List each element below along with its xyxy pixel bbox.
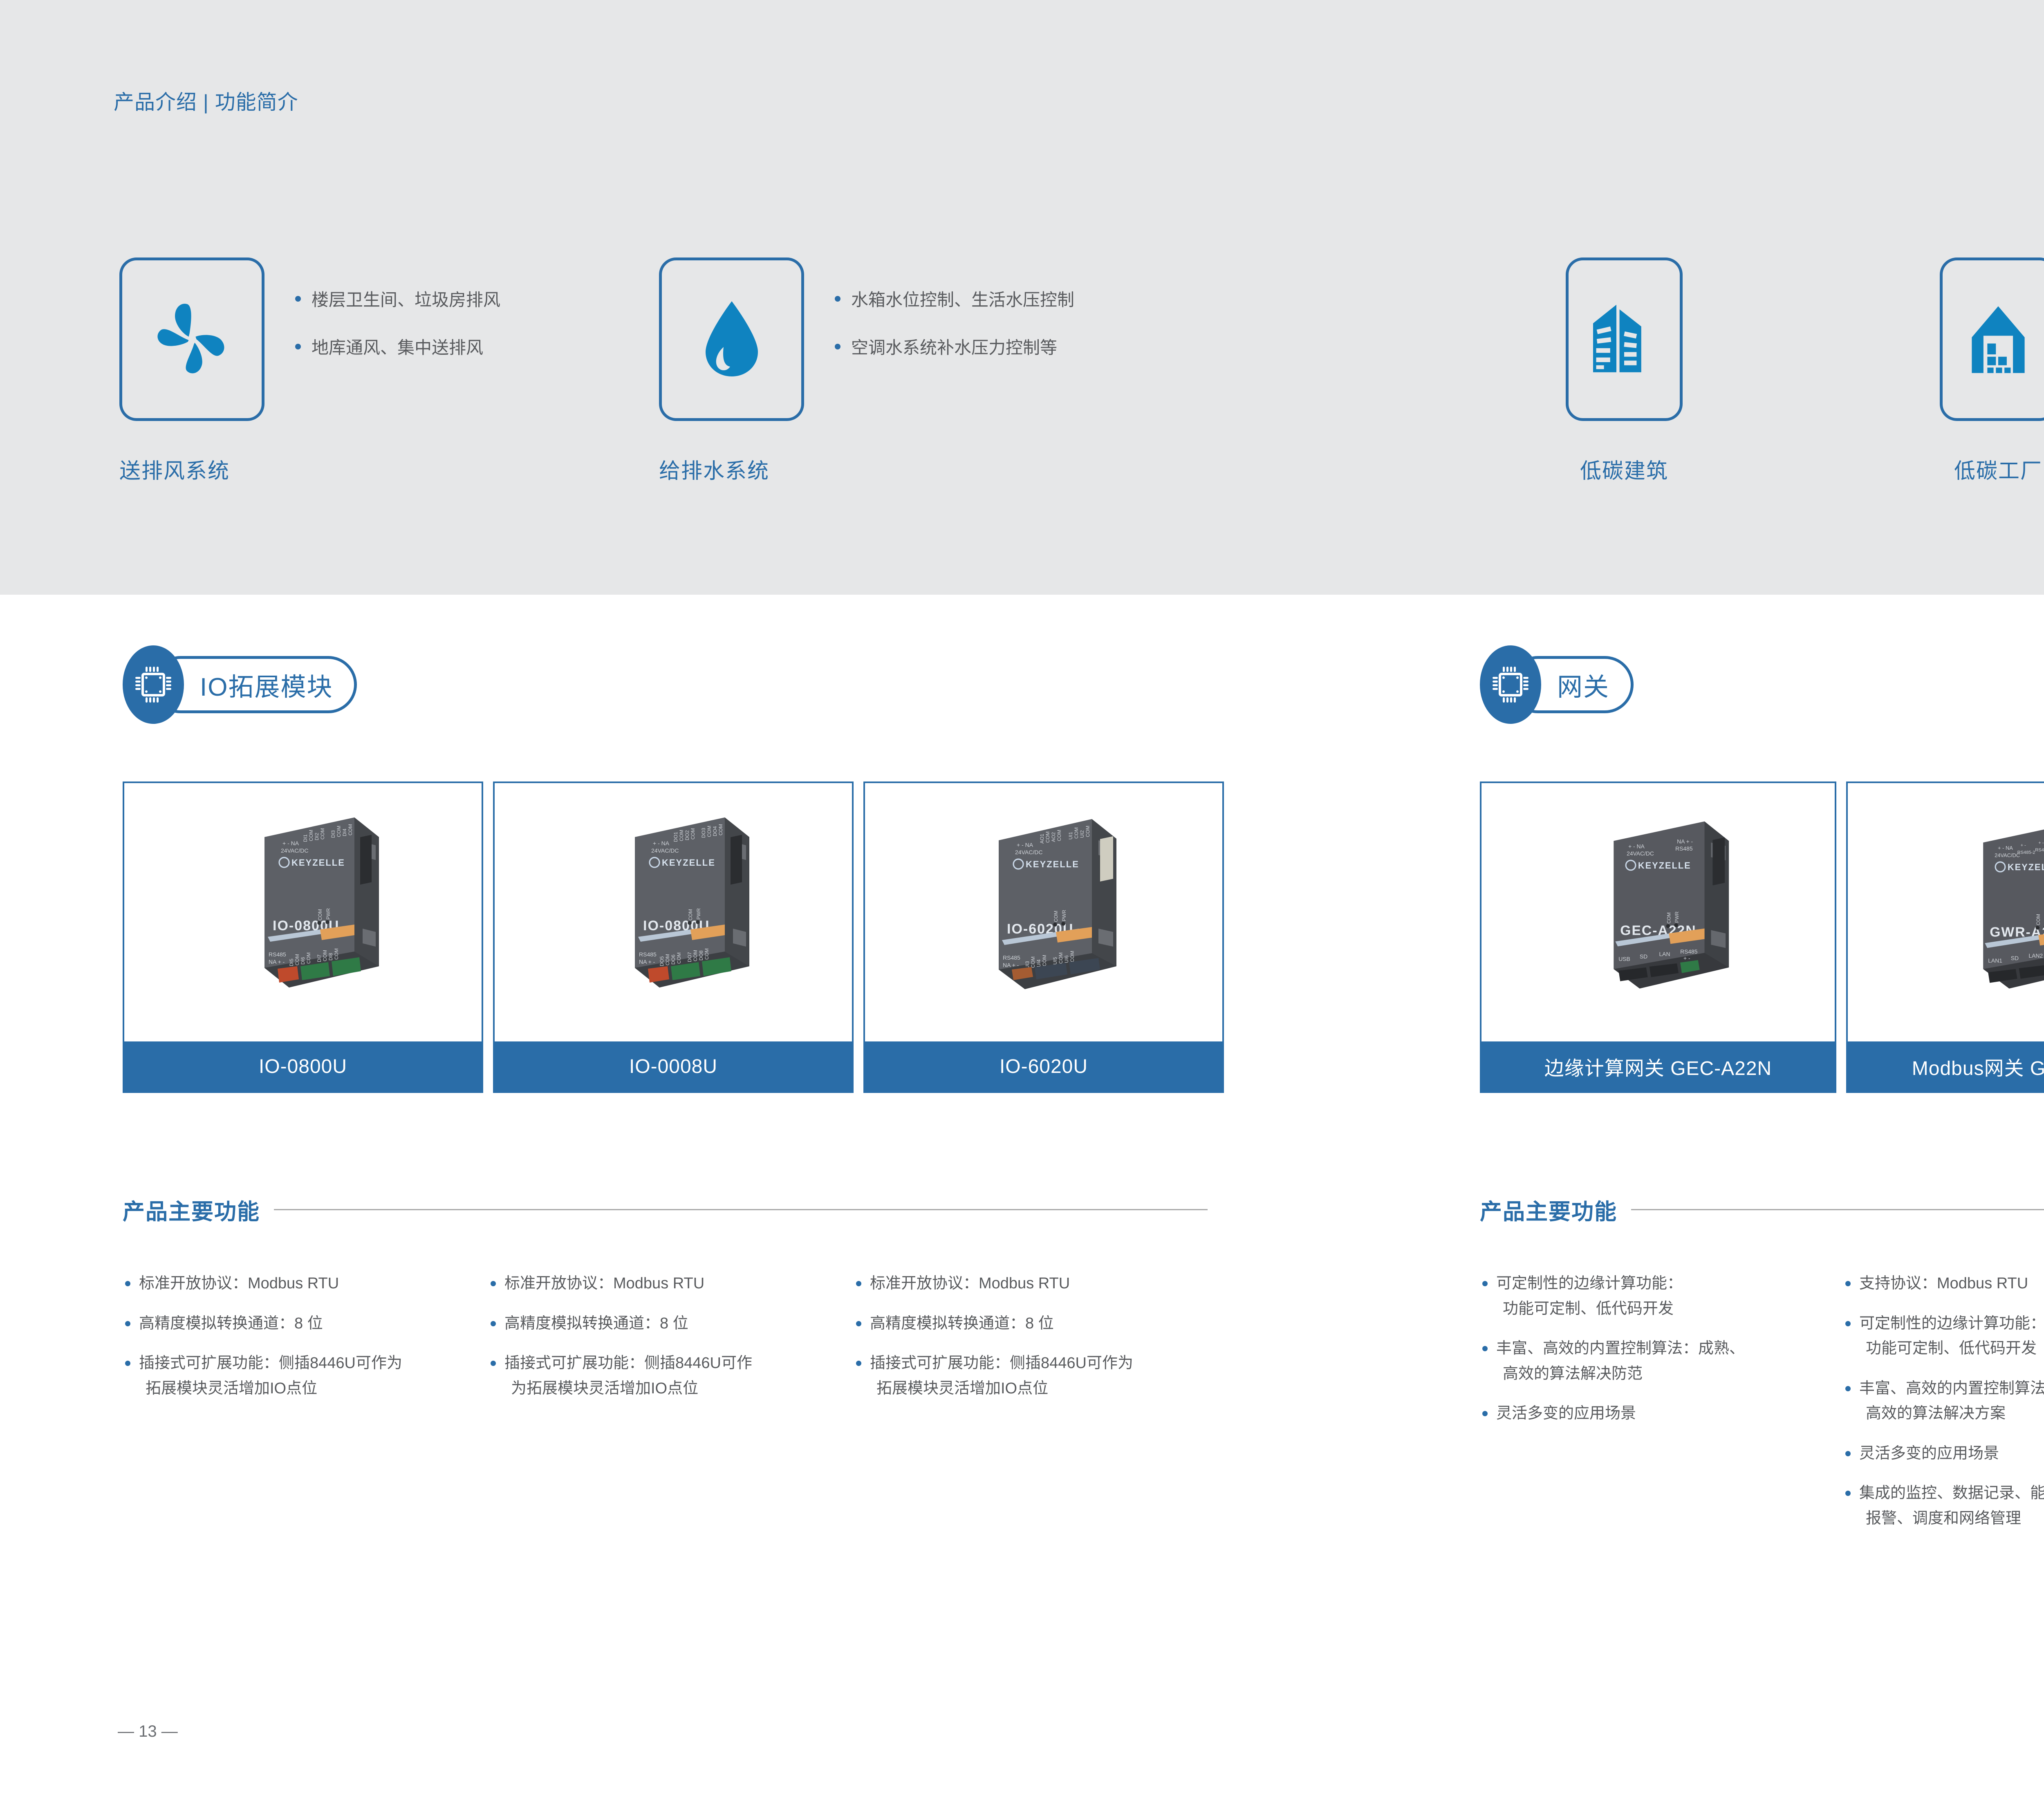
ventilation-bullet-list: 楼层卫生间、垃圾房排风 地库通风、集中送排风 [295,286,500,359]
svg-text:COM: COM [718,824,724,835]
svg-text:KEYZELLE: KEYZELLE [1638,860,1691,871]
product-name: IO-0800U [124,1041,482,1091]
svg-text:24VAC/DC: 24VAC/DC [281,847,308,854]
list-item: 丰富、高效的内置控制算法：成熟、高效的算法解决方案 [1843,1376,2044,1426]
page-number-left: — 13 — [118,1722,178,1741]
list-item: 标准开放协议：Modbus RTU [488,1271,844,1296]
svg-text:COM: COM [1666,912,1672,924]
list-item: 标准开放协议：Modbus RTU [123,1271,478,1296]
svg-text:COM: COM [693,950,698,961]
svg-text:COM: COM [1074,827,1079,839]
office-building-icon-frame [1566,257,1683,421]
section-title: IO拓展模块 [200,666,333,703]
chip-icon-badge [1480,645,1541,724]
product-name: IO-0008U [495,1041,852,1091]
svg-text:AO2: AO2 [1051,832,1056,842]
svg-text:LAN2: LAN2 [2028,952,2043,959]
svg-text:COM: COM [336,826,342,837]
scenario-block-water: 水箱水位控制、生活水压控制 空调水系统补水压力控制等 给排水系统 [659,257,804,484]
list-item: 插接式可扩展功能：侧插8446U可作为拓展模块灵活增加IO点位 [854,1351,1209,1401]
svg-text:RS485: RS485 [639,951,657,958]
chip-icon-badge [123,645,184,724]
svg-text:+ - NA: + - NA [1017,842,1033,848]
fan-icon-frame [119,257,264,421]
list-item: 标准开放协议：Modbus RTU [854,1271,1209,1296]
svg-text:24VAC/DC: 24VAC/DC [1015,849,1042,855]
svg-text:COM: COM [1058,952,1064,964]
svg-text:COM: COM [306,952,312,964]
scenario-block-ventilation: 楼层卫生间、垃圾房排风 地库通风、集中送排风 送排风系统 [119,257,264,484]
brochure-page: 产品介绍 | 功能简介 产品介绍 | 功能简介 楼层卫生间、垃圾房排风 地库通风… [0,0,2044,1798]
svg-text:DO7: DO7 [687,952,693,962]
features-title: 产品主要功能 [1480,1193,1617,1226]
svg-text:USB: USB [1618,956,1630,962]
svg-text:UI2: UI2 [1079,830,1085,838]
low-carbon-building-block: 低碳建筑 [1566,257,1683,484]
svg-text:COM: COM [2035,914,2041,925]
factory-icon-frame [1940,257,2044,421]
feature-list: 可定制性的边缘计算功能：功能可定制、低代码开发 丰富、高效的内置控制算法：成熟、… [1480,1271,1833,1426]
svg-text:COM: COM [1056,830,1062,841]
svg-text:COM: COM [1045,831,1051,843]
svg-text:COM: COM [688,909,693,920]
svg-text:RS485: RS485 [1675,845,1693,852]
list-item: 地库通风、集中送排风 [295,334,500,359]
svg-text:DO6: DO6 [670,954,676,965]
product-card[interactable]: + - NA 24VAC/DC AO1 COM AO2 COM UI1 COM … [863,781,1224,1093]
svg-text:COM: COM [1042,955,1047,966]
list-item: 高精度模拟转换通道：8 位 [488,1311,844,1337]
svg-text:DO2: DO2 [684,830,690,840]
svg-text:+ -: + - [2020,843,2026,848]
svg-text:RS485-3: RS485-3 [2035,848,2044,853]
svg-text:PWR: PWR [1674,911,1680,923]
feature-column: 标准开放协议：Modbus RTU 高精度模拟转换通道：8 位 插接式可扩展功能… [123,1271,478,1416]
product-image-io-0008u: + - NA 24VAC/DC DO1 COM DO2 COM DO3 COM … [495,783,852,1041]
product-card[interactable]: + - NA 24VAC/DC + -RS485-2 + -RS485-3 + … [1846,781,2044,1093]
svg-text:+ -: + - [2038,840,2044,845]
feature-list: 标准开放协议：Modbus RTU 高精度模拟转换通道：8 位 插接式可扩展功能… [488,1271,844,1401]
water-drop-icon [691,296,773,382]
svg-text:DI1: DI1 [303,834,308,842]
svg-text:COM: COM [706,826,712,837]
svg-text:COM: COM [1030,956,1036,968]
scenario-label: 给排水系统 [659,454,804,484]
svg-text:COM: COM [1053,911,1059,922]
svg-text:DI8: DI8 [328,953,334,961]
features-columns-right: 可定制性的边缘计算功能：功能可定制、低代码开发 丰富、高效的内置控制算法：成熟、… [1480,1271,2044,1546]
svg-text:COM: COM [1069,951,1075,962]
svg-text:24VAC/DC: 24VAC/DC [1995,852,2020,858]
svg-text:RS485: RS485 [1680,948,1698,955]
svg-text:RS485-2: RS485-2 [2017,850,2035,855]
feature-list: 支持协议：Modbus RTU 可定制性的边缘计算功能：功能可定制、低代码开发 … [1843,1271,2044,1531]
svg-text:24VAC/DC: 24VAC/DC [651,847,679,854]
svg-text:NA + -: NA + - [269,958,285,965]
svg-text:RS485: RS485 [269,951,286,958]
section-title: 网关 [1557,666,1609,703]
svg-text:COM: COM [690,828,696,840]
low-carbon-factory-block: 低碳工厂 [1940,257,2044,484]
svg-text:24VAC/DC: 24VAC/DC [1627,850,1654,857]
svg-text:DI4: DI4 [342,828,347,836]
svg-text:COM: COM [676,952,682,964]
svg-text:DI2: DI2 [314,833,320,840]
svg-text:DI5: DI5 [289,958,294,966]
feature-column: 标准开放协议：Modbus RTU 高精度模拟转换通道：8 位 插接式可扩展功能… [488,1271,844,1416]
list-item: 插接式可扩展功能：侧插8446U可作为拓展模块灵活增加IO点位 [123,1351,478,1401]
svg-text:+ - NA: + - NA [1628,843,1645,849]
svg-text:UI6: UI6 [1064,955,1069,963]
svg-text:DI6: DI6 [300,957,306,965]
svg-text:KEYZELLE: KEYZELLE [662,858,715,868]
svg-text:COM: COM [1085,826,1091,837]
svg-text:NA + -: NA + - [1003,962,1019,968]
svg-text:DO4: DO4 [712,826,718,836]
product-card[interactable]: + - NA 24VAC/DC DI1 COM DI2 COM DI3 COM … [123,781,483,1093]
fan-icon [149,296,235,382]
factory-icon [1959,298,2037,380]
svg-text:COM: COM [704,948,710,960]
feature-column: 支持协议：Modbus RTU 可定制性的边缘计算功能：功能可定制、低代码开发 … [1843,1271,2044,1546]
svg-text:NA + -: NA + - [1677,838,1693,844]
svg-text:UI5: UI5 [1052,957,1058,965]
svg-text:COM: COM [347,824,353,835]
svg-text:LAN: LAN [1659,951,1670,957]
svg-text:COM: COM [317,909,323,920]
svg-text:SD: SD [2010,955,2018,961]
svg-text:KEYZELLE: KEYZELLE [291,858,345,868]
list-item: 灵活多变的应用场景 [1480,1401,1833,1426]
svg-text:PWR: PWR [325,908,331,920]
svg-text:PWR: PWR [696,908,702,920]
svg-text:LAN1: LAN1 [1988,957,2002,964]
svg-text:COM: COM [334,948,339,960]
product-image-io-0800u: + - NA 24VAC/DC DI1 COM DI2 COM DI3 COM … [124,783,482,1041]
low-carbon-label: 低碳工厂 [1940,454,2044,484]
chip-icon [133,664,174,705]
svg-text:COM: COM [294,954,300,965]
svg-text:COM: COM [679,830,684,841]
office-building-icon [1585,298,1663,380]
svg-text:DI3: DI3 [330,830,336,838]
list-item: 灵活多变的应用场景 [1843,1441,2044,1467]
product-image-gwr-a25n: + - NA 24VAC/DC + -RS485-2 + -RS485-3 + … [1848,783,2044,1041]
product-name: 边缘计算网关 GEC-A22N [1481,1041,1835,1091]
list-item: 可定制性的边缘计算功能：功能可定制、低代码开发 [1843,1311,2044,1361]
product-name: IO-6020U [865,1041,1222,1091]
svg-text:NA + -: NA + - [639,958,655,965]
product-card[interactable]: + - NA 24VAC/DC DO1 COM DO2 COM DO3 COM … [493,781,854,1093]
svg-text:DI7: DI7 [316,954,322,962]
heading-rule [274,1209,1208,1210]
features-heading-right: 产品主要功能 [1480,1193,2044,1226]
feature-column: 标准开放协议：Modbus RTU 高精度模拟转换通道：8 位 插接式可扩展功能… [854,1271,1209,1416]
section-heading-io-modules: IO拓展模块 [123,642,357,728]
features-columns-left: 标准开放协议：Modbus RTU 高精度模拟转换通道：8 位 插接式可扩展功能… [123,1271,1210,1416]
svg-text:+ - NA: + - NA [282,840,299,846]
scenario-label: 送排风系统 [119,454,264,484]
product-image-gec-a22n: + - NA 24VAC/DC NA + - RS485 KEYZELLE GE… [1481,783,1835,1041]
svg-text:AO1: AO1 [1039,834,1045,844]
feature-list: 标准开放协议：Modbus RTU 高精度模拟转换通道：8 位 插接式可扩展功能… [123,1271,478,1401]
low-carbon-label: 低碳建筑 [1566,454,1683,484]
product-image-io-6020u: + - NA 24VAC/DC AO1 COM AO2 COM UI1 COM … [865,783,1222,1041]
svg-text:RS485: RS485 [1003,954,1020,961]
svg-text:UI4: UI4 [1036,959,1042,967]
gateway-product-card-row: + - NA 24VAC/DC NA + - RS485 KEYZELLE GE… [1480,781,2044,1093]
list-item: 插接式可扩展功能：侧插8446U可作为拓展模块灵活增加IO点位 [488,1351,844,1401]
water-drop-icon-frame [659,257,804,421]
water-bullet-list: 水箱水位控制、生活水压控制 空调水系统补水压力控制等 [835,286,1074,359]
list-item: 水箱水位控制、生活水压控制 [835,286,1074,311]
list-item: 支持协议：Modbus RTU [1843,1271,2044,1296]
svg-text:KEYZELLE: KEYZELLE [1026,859,1079,869]
svg-text:+ -: + - [1683,955,1690,961]
product-card[interactable]: + - NA 24VAC/DC NA + - RS485 KEYZELLE GE… [1480,781,1836,1093]
svg-text:UI1: UI1 [1068,832,1074,840]
heading-rule [1631,1209,2044,1210]
svg-text:COM: COM [308,830,314,841]
product-name: Modbus网关 GWR-A25N [1848,1041,2044,1091]
svg-text:DO1: DO1 [673,832,679,842]
svg-text:+ - NA: + - NA [1998,845,2013,851]
feature-list: 标准开放协议：Modbus RTU 高精度模拟转换通道：8 位 插接式可扩展功能… [854,1271,1209,1401]
svg-text:PWR: PWR [1061,910,1067,921]
section-heading-gateway: 网关 [1480,642,1634,728]
svg-text:DO3: DO3 [701,828,706,838]
io-product-card-row: + - NA 24VAC/DC DI1 COM DI2 COM DI3 COM … [123,781,1224,1093]
feature-column: 可定制性的边缘计算功能：功能可定制、低代码开发 丰富、高效的内置控制算法：成熟、… [1480,1271,1833,1546]
svg-text:SD: SD [1639,953,1647,960]
chip-icon [1490,664,1531,705]
list-item: 可定制性的边缘计算功能：功能可定制、低代码开发 [1480,1271,1833,1321]
svg-text:KEYZELLE: KEYZELLE [2007,862,2044,872]
svg-text:DO8: DO8 [698,950,704,961]
svg-text:+ - NA: + - NA [653,840,670,846]
svg-text:DO5: DO5 [659,956,665,966]
features-title: 产品主要功能 [123,1193,260,1226]
list-item: 楼层卫生间、垃圾房排风 [295,286,500,311]
list-item: 集成的监控、数据记录、能耗计量、报警、调度和网络管理 [1843,1481,2044,1531]
list-item: 高精度模拟转换通道：8 位 [854,1311,1209,1337]
svg-text:COM: COM [320,828,325,840]
list-item: 丰富、高效的内置控制算法：成熟、高效的算法解决防范 [1480,1336,1833,1386]
features-heading-left: 产品主要功能 [123,1193,1208,1226]
svg-text:COM: COM [665,954,670,965]
list-item: 空调水系统补水压力控制等 [835,334,1074,359]
list-item: 高精度模拟转换通道：8 位 [123,1311,478,1337]
svg-text:COM: COM [322,950,328,961]
header-left: 产品介绍 | 功能简介 [114,86,298,115]
